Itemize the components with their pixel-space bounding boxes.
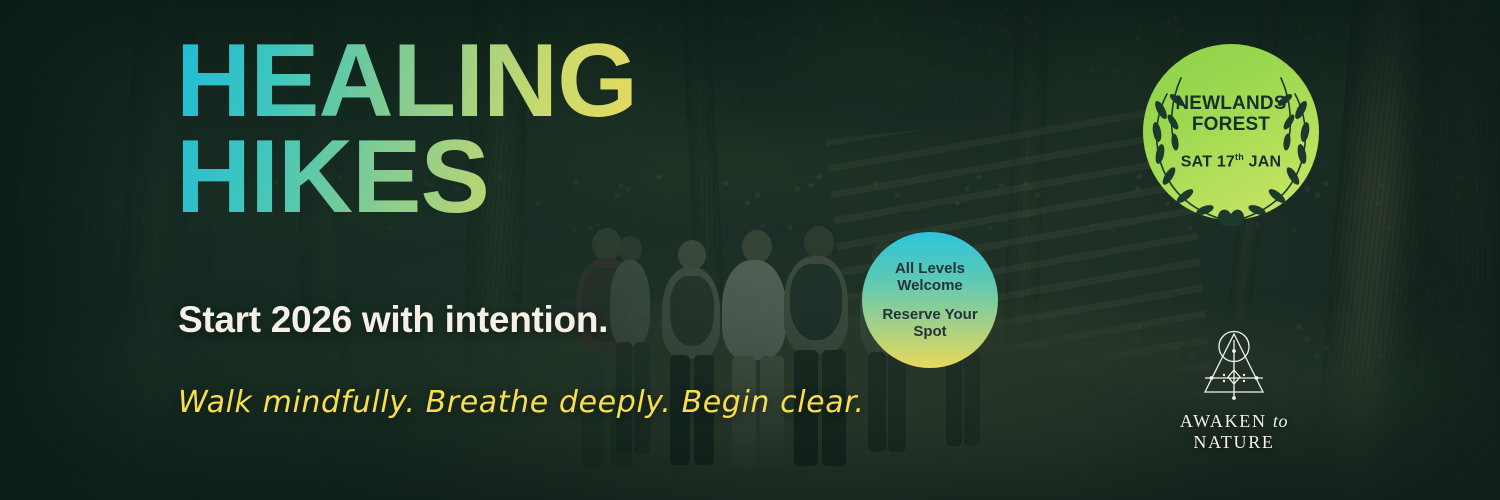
reserve-your-spot-text: Reserve Your Spot (882, 306, 977, 340)
event-date-ordinal: th (1235, 152, 1244, 162)
logo-word-1: AWAKEN (1180, 411, 1267, 431)
page-title: HEALING HIKES (176, 34, 637, 225)
brand-logo[interactable]: AWAKEN to NATURE (1148, 326, 1320, 453)
headline-line-2: HIKES (176, 130, 637, 226)
cta-line-1: All Levels (895, 260, 965, 277)
event-location-line-2: FOREST (1192, 114, 1270, 135)
reserve-spot-badge[interactable]: All Levels Welcome Reserve Your Spot (862, 232, 998, 368)
event-location: NEWLANDS FOREST (1175, 93, 1286, 136)
logo-word-2: to (1273, 411, 1288, 431)
event-date-prefix: SAT 17 (1181, 153, 1235, 170)
cta-line-4: Spot (913, 323, 946, 340)
tagline: Walk mindfully. Breathe deeply. Begin cl… (178, 385, 865, 420)
subheadline: Start 2026 with intention. (178, 299, 608, 341)
cta-line-3: Reserve Your (882, 306, 977, 323)
cta-line-2: Welcome (897, 277, 963, 294)
logo-wordmark: AWAKEN to NATURE (1148, 411, 1320, 453)
event-location-line-1: NEWLANDS (1175, 93, 1286, 114)
triangle-circle-mandala-icon (1195, 326, 1273, 404)
event-details-badge[interactable]: NEWLANDS FOREST SAT 17th JAN (1143, 44, 1319, 220)
healing-hikes-banner: HEALING HIKES Start 2026 with intention.… (0, 0, 1500, 500)
event-date-suffix: JAN (1249, 153, 1282, 170)
logo-word-3: NATURE (1193, 432, 1274, 452)
all-levels-welcome-text: All Levels Welcome (895, 260, 965, 294)
event-date: SAT 17th JAN (1181, 152, 1281, 171)
